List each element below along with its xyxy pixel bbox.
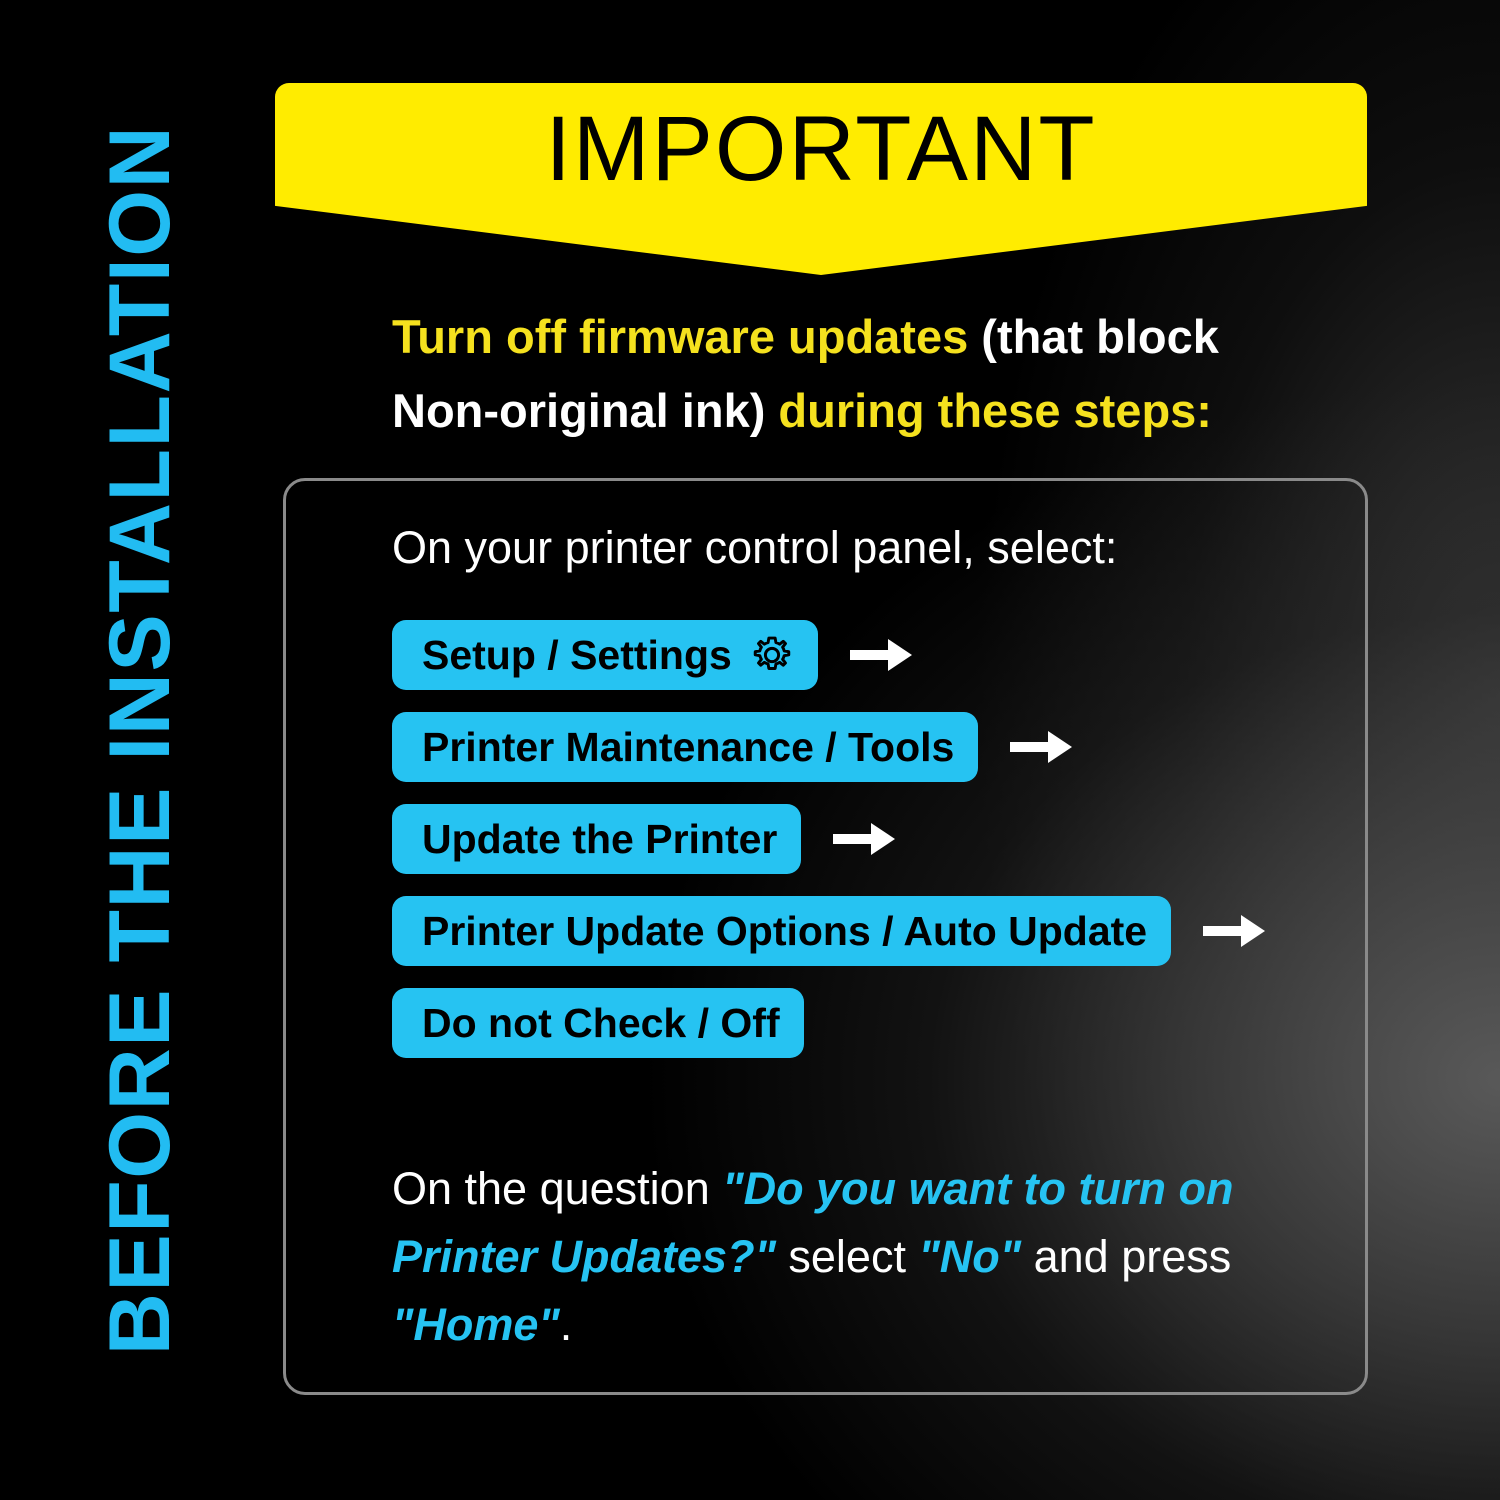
closing-paragraph: On the question "Do you want to turn on … bbox=[392, 1155, 1272, 1359]
headline-part-1: Turn off firmware updates bbox=[392, 310, 981, 363]
arrow-right-icon bbox=[848, 634, 914, 676]
step-row: Printer Maintenance / Tools bbox=[392, 712, 1342, 782]
important-banner: IMPORTANT bbox=[275, 83, 1367, 275]
steps-list: Setup / Settings Printer Mai bbox=[392, 620, 1342, 1080]
arrow-right-icon bbox=[1008, 726, 1074, 768]
step-row: Setup / Settings bbox=[392, 620, 1342, 690]
step-label: Update the Printer bbox=[422, 816, 777, 863]
headline-paragraph: Turn off firmware updates (that block No… bbox=[392, 300, 1222, 448]
step-chip-printer-update-options-auto-update[interactable]: Printer Update Options / Auto Update bbox=[392, 896, 1171, 966]
step-row: Do not Check / Off bbox=[392, 988, 1342, 1058]
closing-text-4: . bbox=[560, 1299, 573, 1350]
poster-canvas: BEFORE THE INSTALLATION IMPORTANT Turn o… bbox=[0, 0, 1500, 1500]
arrow-right-icon bbox=[831, 818, 897, 860]
step-chip-do-not-check-off[interactable]: Do not Check / Off bbox=[392, 988, 804, 1058]
headline-part-3: during these steps: bbox=[765, 384, 1212, 437]
step-row: Update the Printer bbox=[392, 804, 1342, 874]
step-label: Do not Check / Off bbox=[422, 1000, 780, 1047]
closing-text-1: On the question bbox=[392, 1163, 722, 1214]
banner-title: IMPORTANT bbox=[275, 97, 1367, 202]
step-row: Printer Update Options / Auto Update bbox=[392, 896, 1342, 966]
closing-quote-no: "No" bbox=[918, 1231, 1021, 1282]
gear-icon bbox=[750, 633, 794, 677]
arrow-right-icon bbox=[1201, 910, 1267, 952]
side-title-text: BEFORE THE INSTALLATION bbox=[65, 40, 215, 1440]
step-chip-update-the-printer[interactable]: Update the Printer bbox=[392, 804, 801, 874]
step-label: Printer Update Options / Auto Update bbox=[422, 908, 1147, 955]
step-label: Printer Maintenance / Tools bbox=[422, 724, 954, 771]
panel-lead-text: On your printer control panel, select: bbox=[392, 522, 1117, 574]
closing-text-3: and press bbox=[1021, 1231, 1231, 1282]
step-label: Setup / Settings bbox=[422, 632, 732, 679]
step-chip-printer-maintenance-tools[interactable]: Printer Maintenance / Tools bbox=[392, 712, 978, 782]
closing-text-2: select bbox=[776, 1231, 919, 1282]
vertical-side-title: BEFORE THE INSTALLATION bbox=[0, 0, 260, 1500]
step-chip-setup-settings[interactable]: Setup / Settings bbox=[392, 620, 818, 690]
closing-quote-home: "Home" bbox=[392, 1299, 560, 1350]
